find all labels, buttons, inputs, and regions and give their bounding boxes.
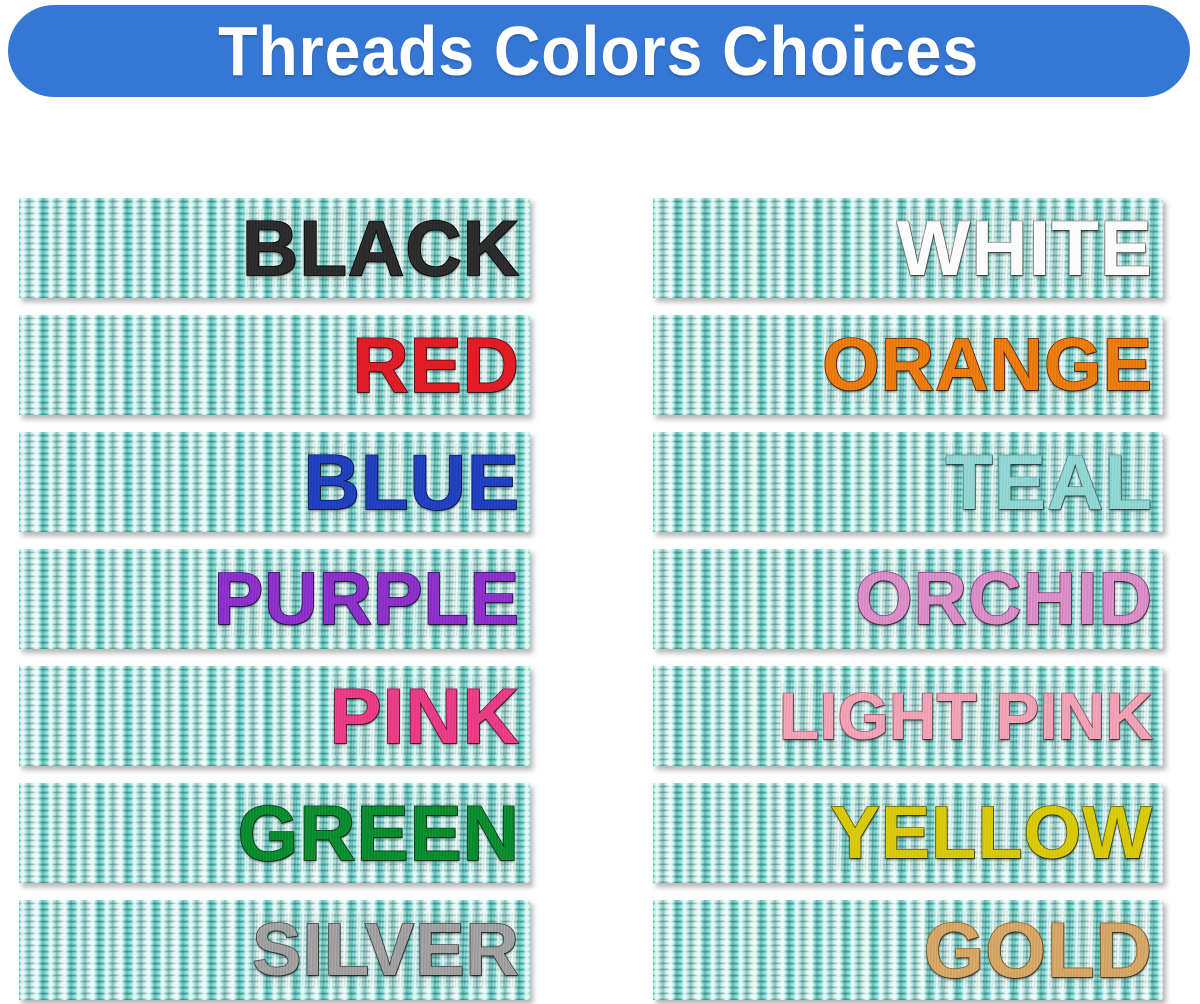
swatch-label-blue: BLUE (304, 443, 520, 521)
page-title: Threads Colors Choices (218, 16, 979, 86)
swatch-label-gold: GOLD (924, 911, 1153, 989)
swatch-label-pink: PINK (330, 677, 520, 755)
swatch-black[interactable]: BLACK (19, 198, 530, 298)
swatch-label-white: WHITE (897, 209, 1153, 287)
swatch-white[interactable]: WHITE (653, 198, 1163, 298)
swatch-green[interactable]: GREEN (19, 783, 530, 883)
header-banner: Threads Colors Choices (8, 5, 1190, 97)
swatch-gold[interactable]: GOLD (653, 900, 1163, 1000)
swatch-label-green: GREEN (238, 794, 520, 872)
swatch-teal[interactable]: TEAL (653, 432, 1163, 532)
swatch-label-red: RED (352, 326, 520, 404)
swatch-light-pink[interactable]: LIGHT PINK (653, 666, 1163, 766)
swatch-silver[interactable]: SILVER (19, 900, 530, 1000)
swatch-red[interactable]: RED (19, 315, 530, 415)
swatch-orchid[interactable]: ORCHID (653, 549, 1163, 649)
swatch-orange[interactable]: ORANGE (653, 315, 1163, 415)
swatch-column-right: WHITE ORANGE TEAL ORCHID LIGHT PINK YELL… (653, 198, 1163, 1000)
swatch-yellow[interactable]: YELLOW (653, 783, 1163, 883)
swatch-label-purple: PURPLE (214, 562, 520, 636)
swatch-label-light-pink: LIGHT PINK (779, 683, 1153, 749)
swatch-blue[interactable]: BLUE (19, 432, 530, 532)
swatch-label-yellow: YELLOW (830, 796, 1153, 870)
swatch-column-left: BLACK RED BLUE PURPLE PINK GREEN SILVER (19, 198, 530, 1000)
swatch-label-black: BLACK (242, 209, 520, 287)
swatch-pink[interactable]: PINK (19, 666, 530, 766)
swatch-label-silver: SILVER (252, 913, 520, 987)
swatch-label-teal: TEAL (945, 443, 1153, 521)
swatch-purple[interactable]: PURPLE (19, 549, 530, 649)
swatch-label-orange: ORANGE (822, 328, 1153, 402)
swatch-label-orchid: ORCHID (855, 562, 1153, 636)
thread-color-swatch-grid: BLACK RED BLUE PURPLE PINK GREEN SILVER … (0, 198, 1200, 1004)
